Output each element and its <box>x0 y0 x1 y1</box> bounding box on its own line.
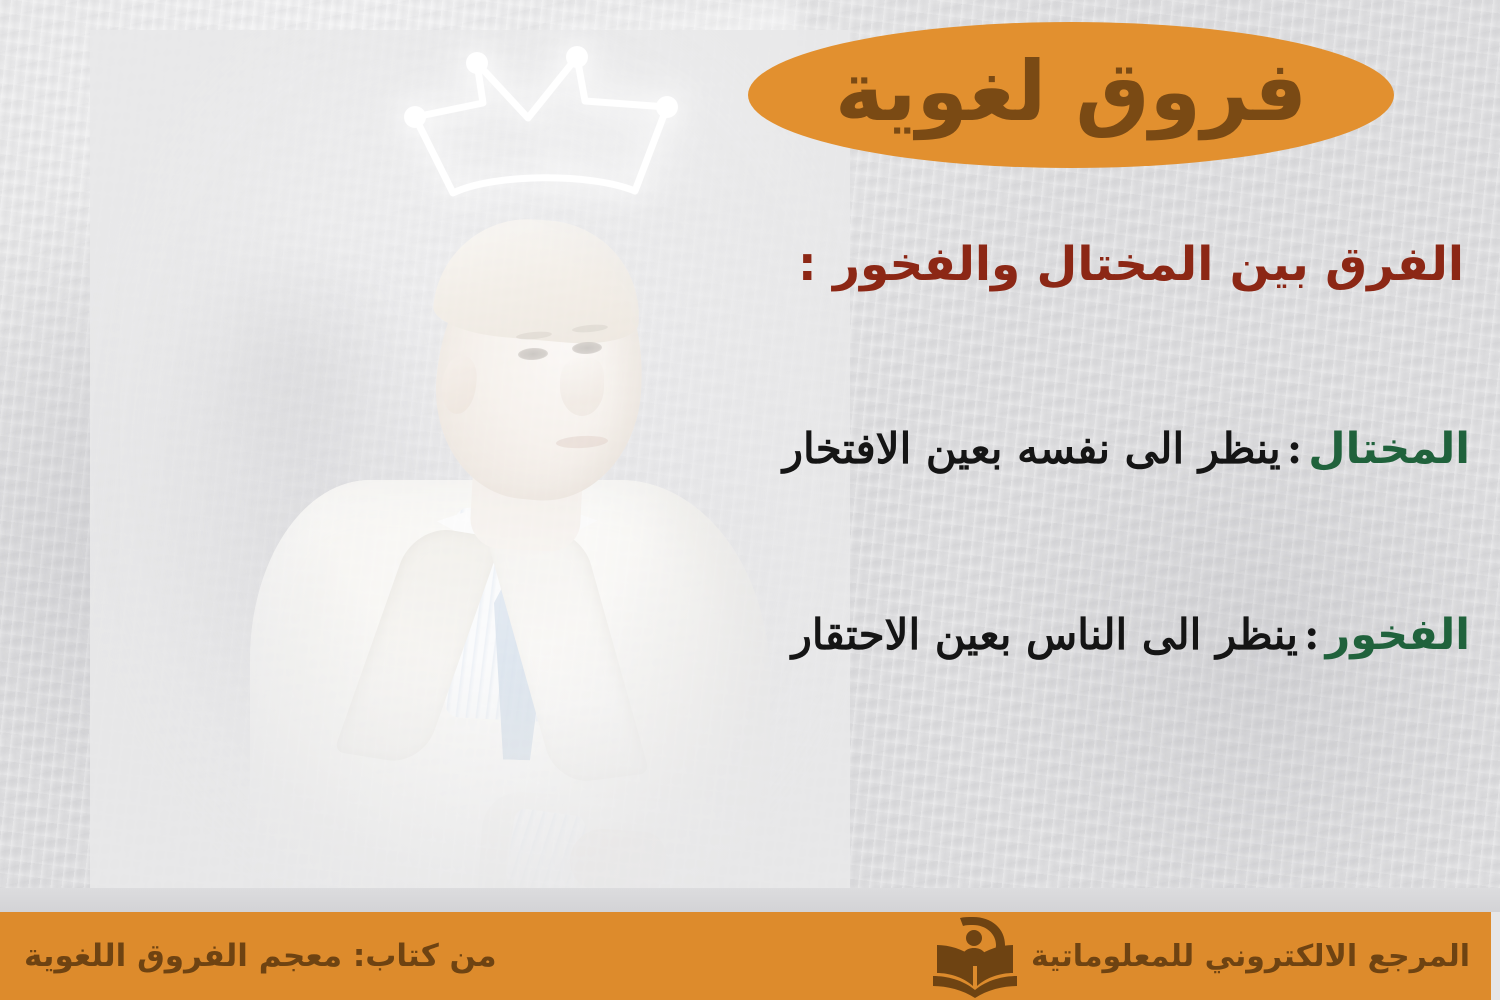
definition-row-1: المختال:ينظر الى نفسه بعين الافتخار <box>783 424 1470 476</box>
title-badge: فروق لغوية <box>748 22 1394 168</box>
footer-divider <box>0 888 1500 912</box>
footer-bar: من كتاب: معجم الفروق اللغوية المرجع الال… <box>0 912 1500 1000</box>
footer-edge-sliver <box>1491 912 1500 1000</box>
definition-text-2: ينظر الى الناس بعين الاحتقار <box>792 610 1298 659</box>
term-separator-1: : <box>1281 424 1309 473</box>
footer-content: من كتاب: معجم الفروق اللغوية المرجع الال… <box>0 912 1500 1000</box>
crown-icon <box>395 45 695 215</box>
source-credit: من كتاب: معجم الفروق اللغوية <box>24 938 497 974</box>
poster-canvas: فروق لغوية الفرق بين المختال والفخور : ا… <box>0 0 1500 1000</box>
definition-row-2: الفخور:ينظر الى الناس بعين الاحتقار <box>792 610 1470 662</box>
subtitle: الفرق بين المختال والفخور : <box>644 236 1464 295</box>
definition-text-1: ينظر الى نفسه بعين الافتخار <box>783 424 1281 473</box>
term-label-2: الفخور <box>1325 610 1470 660</box>
page-title: فروق لغوية <box>835 50 1307 133</box>
term-label-1: المختال <box>1308 424 1470 474</box>
term-separator-2: : <box>1298 610 1326 659</box>
open-book-person-logo-icon <box>929 914 1021 998</box>
brand-name: المرجع الالكتروني للمعلوماتية <box>1031 939 1470 974</box>
brand-block[interactable]: المرجع الالكتروني للمعلوماتية <box>929 914 1470 998</box>
